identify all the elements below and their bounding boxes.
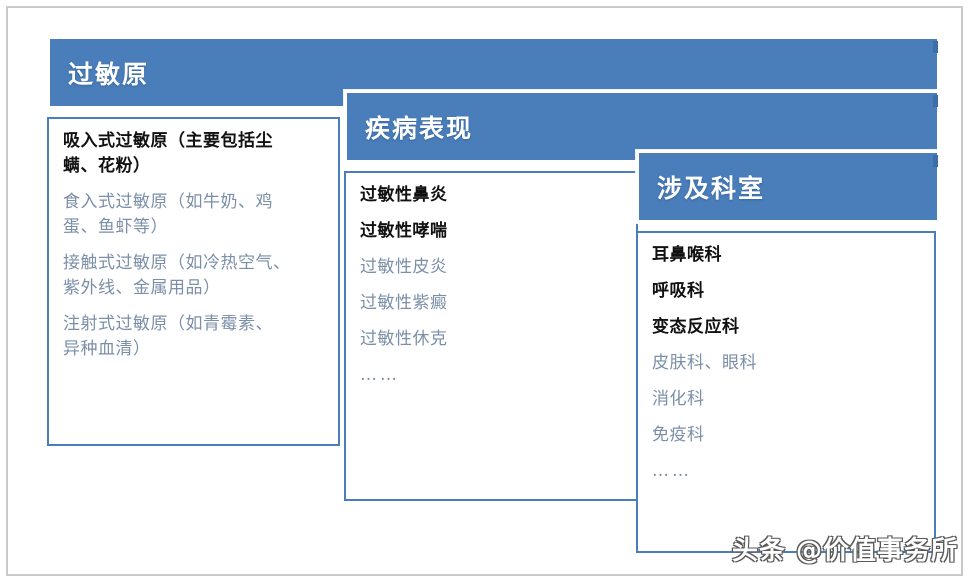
list-item: 呼吸科 [652,279,920,304]
header-notch-icon [933,155,938,167]
header-notch-icon [933,41,938,53]
list-item: 变态反应科 [652,315,920,340]
watermark: 头条 @价值事务所 [732,530,958,567]
list-item: 食入式过敏原（如牛奶、鸡 蛋、鱼虾等） [63,190,324,240]
column-header-departments[interactable]: 涉及科室 [636,150,940,223]
list-item-ellipsis: …… [652,459,920,484]
header-notch-icon [933,95,938,107]
list-item-ellipsis: …… [360,363,622,388]
list-item: 过敏性哮喘 [360,219,622,244]
list-item: 皮肤科、眼科 [652,351,920,376]
list-item: 免疫科 [652,423,920,448]
column-header-title: 涉及科室 [657,169,765,205]
list-item: 耳鼻喉科 [652,243,920,268]
list-item: 过敏性皮炎 [360,255,622,280]
slide-canvas: 过敏原 吸入式过敏原（主要包括尘 螨、花粉） 食入式过敏原（如牛奶、鸡 蛋、鱼虾… [0,0,970,584]
column-body-allergen: 吸入式过敏原（主要包括尘 螨、花粉） 食入式过敏原（如牛奶、鸡 蛋、鱼虾等） 接… [47,117,340,446]
list-item: 消化科 [652,387,920,412]
list-item: 接触式过敏原（如冷热空气、 紫外线、金属用品） [63,251,324,301]
list-item: 过敏性鼻炎 [360,183,622,208]
column-header-title: 过敏原 [68,55,149,91]
list-item: 吸入式过敏原（主要包括尘 螨、花粉） [63,129,324,179]
list-item: 过敏性休克 [360,327,622,352]
column-body-departments: 耳鼻喉科 呼吸科 变态反应科 皮肤科、眼科 消化科 免疫科 …… [636,231,936,553]
column-header-title: 疾病表现 [365,109,473,145]
list-item: 注射式过敏原（如青霉素、 异种血清） [63,312,324,362]
column-body-disease-manifestation: 过敏性鼻炎 过敏性哮喘 过敏性皮炎 过敏性紫癜 过敏性休克 …… [344,171,638,501]
list-item: 过敏性紫癜 [360,291,622,316]
